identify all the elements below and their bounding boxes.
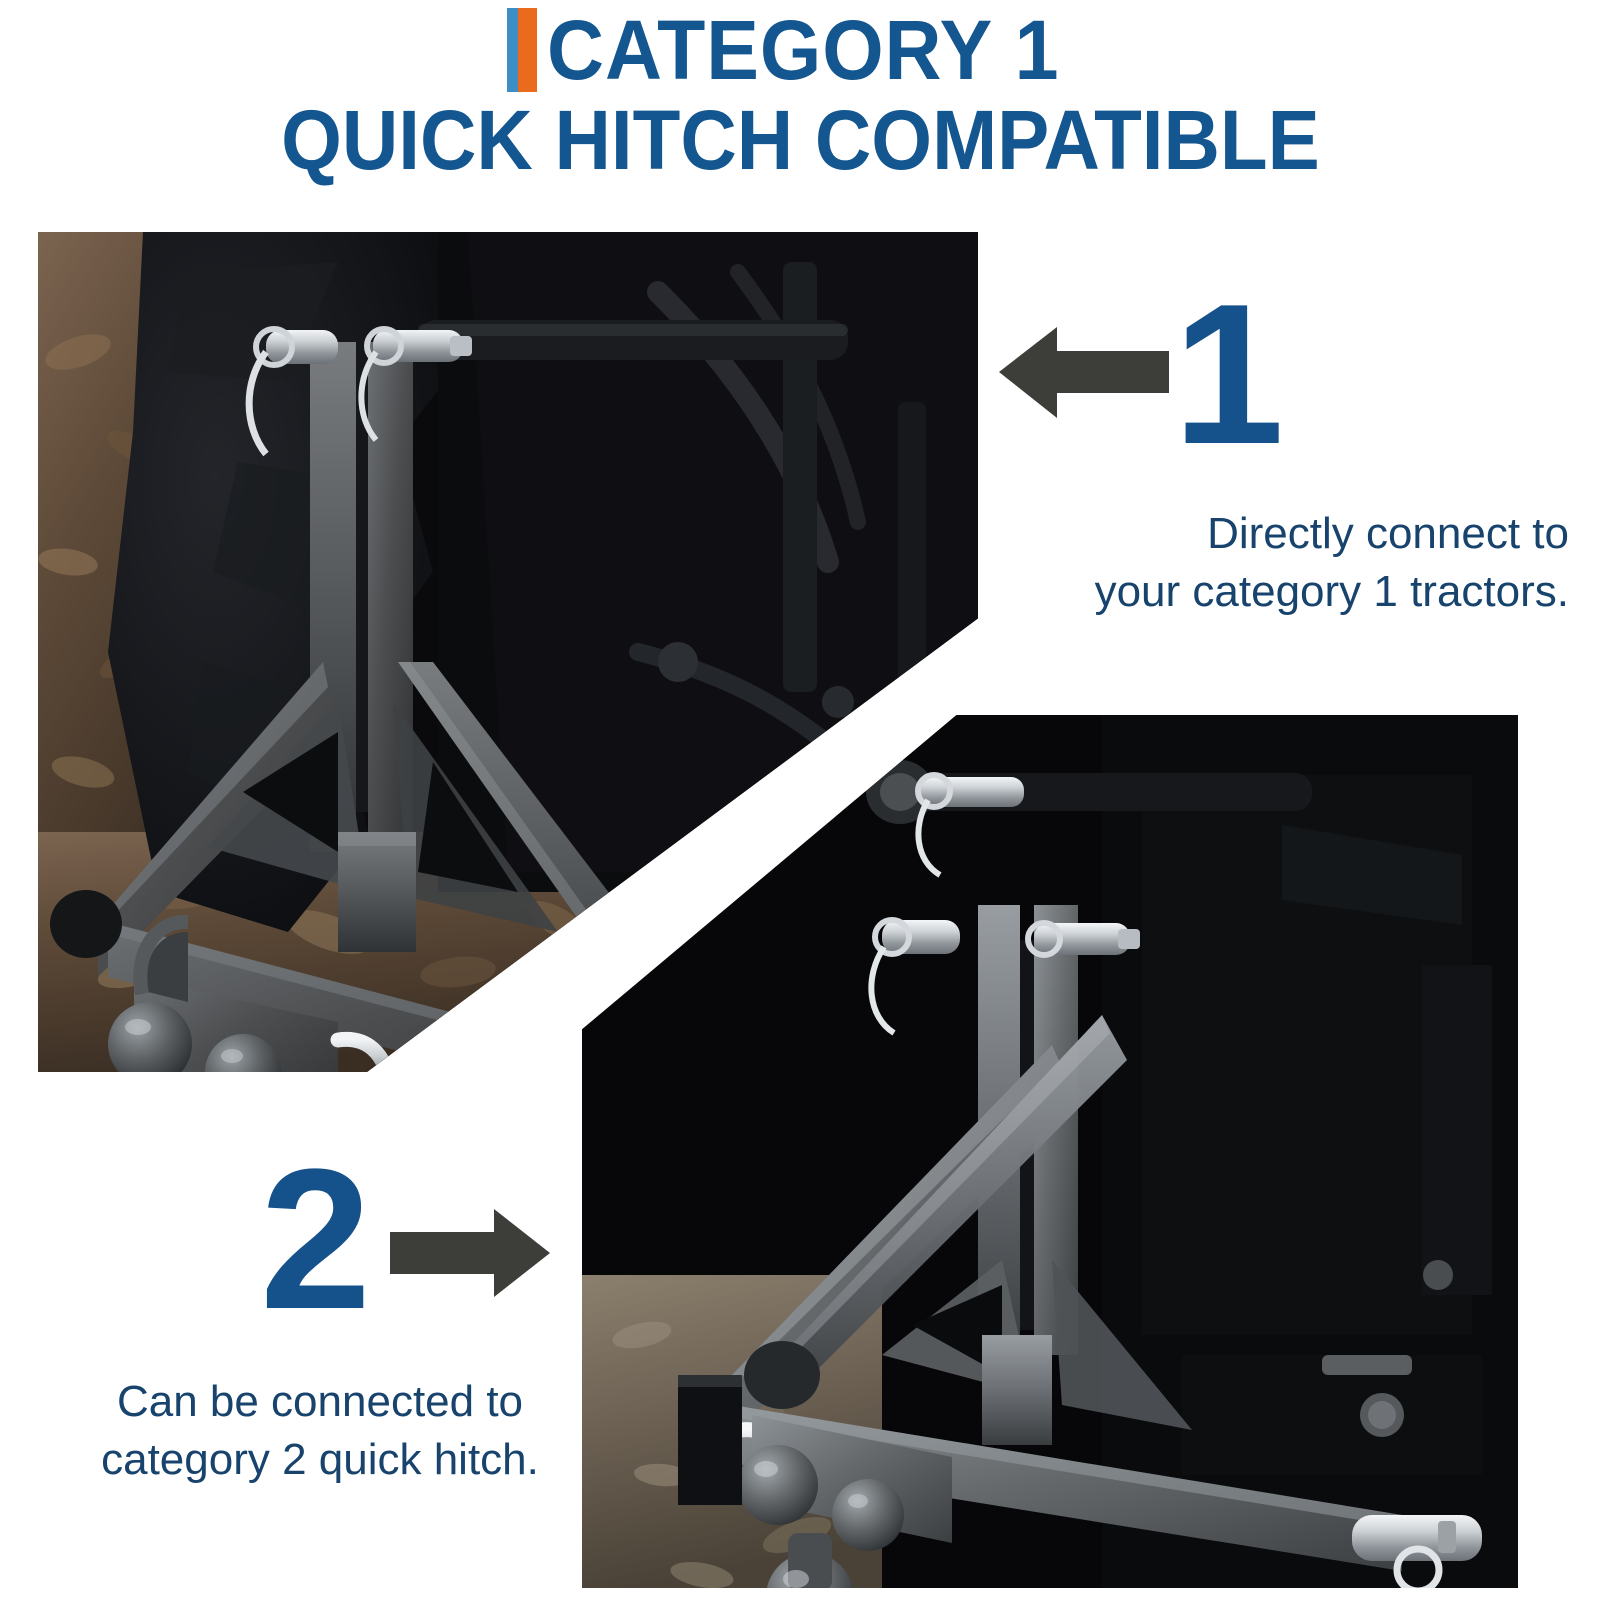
callout-1: 1 Directly connect to your category 1 tr…	[985, 280, 1575, 625]
top-link-bar	[418, 320, 848, 360]
page-header: CATEGORY 1 QUICK HITCH COMPATIBLE	[0, 0, 1600, 200]
hitch-ball-1-lower	[738, 1445, 818, 1525]
hitch-ball-2-lower	[832, 1479, 904, 1551]
callout-2-caption-line-1: Can be connected to	[60, 1373, 580, 1431]
quick-hitch-bracket	[678, 1375, 742, 1505]
infographic-page: CATEGORY 1 QUICK HITCH COMPATIBLE	[0, 0, 1600, 1600]
arm-end-bumper	[50, 890, 122, 958]
accent-stripe-orange	[518, 8, 537, 92]
callout-1-number: 1	[1173, 280, 1280, 470]
callout-1-caption-line-2: your category 1 tractors.	[983, 563, 1569, 621]
title-line-2-row: QUICK HITCH COMPATIBLE	[0, 92, 1600, 187]
page-title-line-1: CATEGORY 1	[547, 8, 1060, 92]
callout-2-caption-line-2: category 2 quick hitch.	[60, 1431, 580, 1489]
callout-1-marker-row: 1	[985, 280, 1285, 470]
callout-2-number: 2	[260, 1145, 367, 1335]
title-line-1-row: CATEGORY 1	[0, 4, 1600, 96]
page-title-line-2: QUICK HITCH COMPATIBLE	[281, 96, 1320, 184]
implement-body	[1102, 715, 1518, 1588]
arrow-left-icon	[999, 325, 1169, 420]
callout-1-caption: Directly connect to your category 1 trac…	[983, 505, 1569, 621]
callout-2: 2 Can be connected to category 2 quick h…	[60, 1145, 580, 1525]
accent-bar	[507, 8, 537, 92]
callout-1-caption-line-1: Directly connect to	[983, 505, 1569, 563]
hitch-pin-right-lower	[1028, 923, 1140, 955]
arrow-right-icon	[390, 1207, 550, 1299]
product-photo-quick-hitch-mounted	[582, 715, 1518, 1588]
accent-stripe-blue	[507, 8, 518, 92]
callout-2-caption: Can be connected to category 2 quick hit…	[60, 1373, 580, 1489]
photo-bottom-artwork	[582, 715, 1518, 1588]
